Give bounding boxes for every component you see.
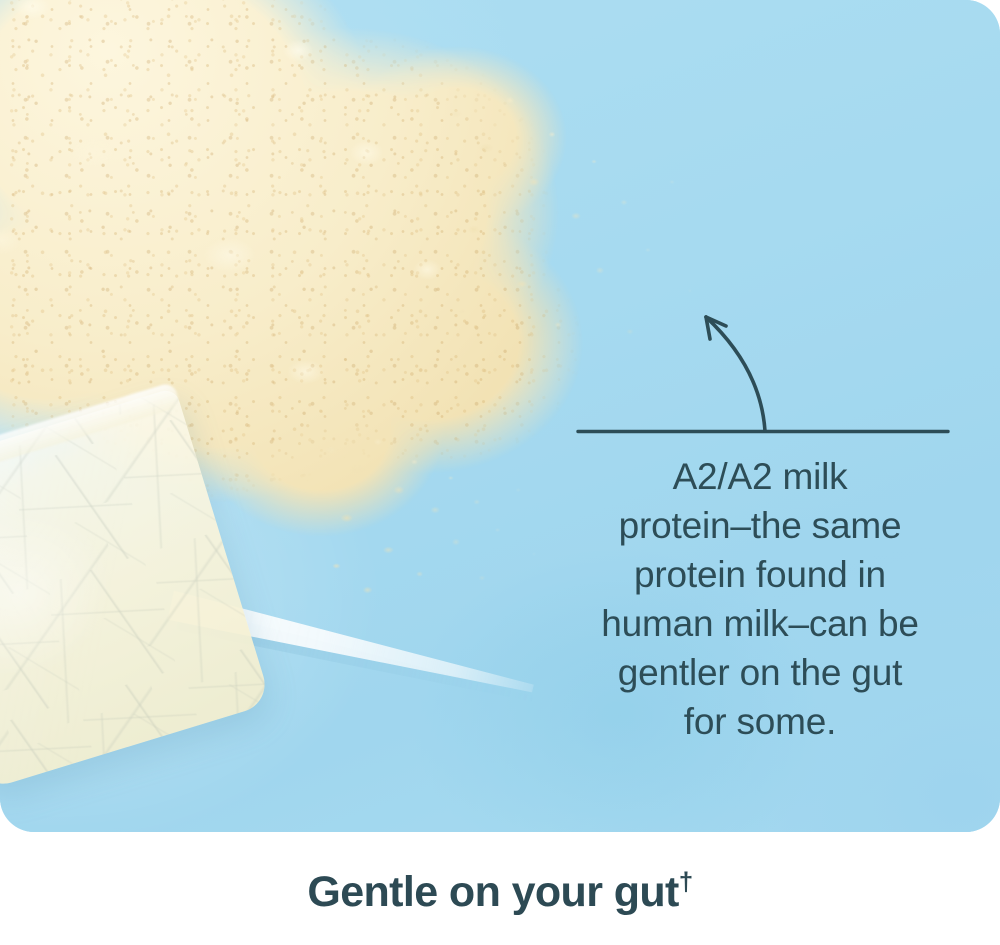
caption-line: protein–the same [560,501,960,550]
caption-line: protein found in [560,550,960,599]
caption-line: for some. [560,697,960,746]
powder-crumb-scatter-lower [300,430,560,630]
callout-caption: A2/A2 milk protein–the same protein foun… [560,452,960,746]
caption-line: gentler on the gut [560,648,960,697]
headline-text: Gentle on your gut [307,868,678,916]
product-feature-card: A2/A2 milk protein–the same protein foun… [0,0,1000,945]
headline-footnote-marker: † [679,867,693,897]
powder-crumb-scatter [420,80,720,420]
headline: Gentle on your gut† [0,868,1000,917]
caption-line: human milk–can be [560,599,960,648]
caption-line: A2/A2 milk [560,452,960,501]
product-photo-panel: A2/A2 milk protein–the same protein foun… [0,0,1000,832]
